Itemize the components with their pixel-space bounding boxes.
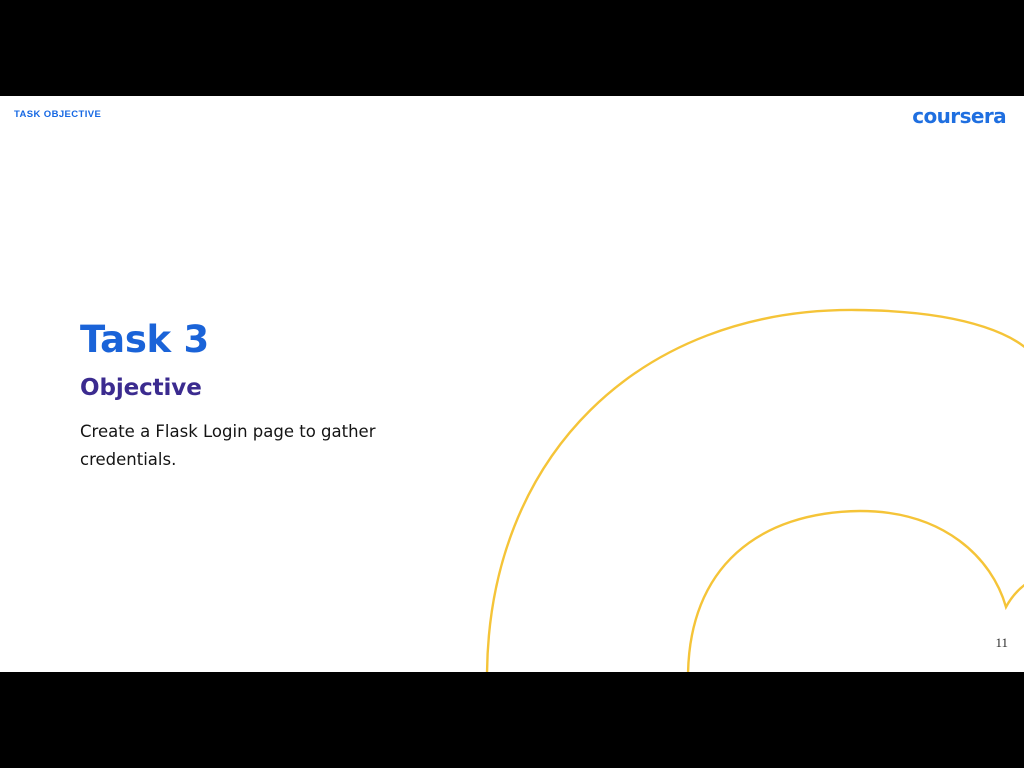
content-block: Task 3 Objective Create a Flask Login pa… xyxy=(80,320,480,474)
coursera-logo: coursera xyxy=(912,104,1006,128)
inner-arc-path xyxy=(688,511,1024,672)
objective-body-text: Create a Flask Login page to gather cred… xyxy=(80,418,380,474)
outer-arc-path xyxy=(487,310,1024,672)
slide-header: TASK OBJECTIVE coursera xyxy=(0,96,1024,142)
letterbox-top-bar xyxy=(0,0,1024,96)
objective-heading: Objective xyxy=(80,375,480,401)
slide-frame: TASK OBJECTIVE coursera Task 3 Objective… xyxy=(0,0,1024,768)
letterbox-bottom-bar xyxy=(0,672,1024,768)
task-title: Task 3 xyxy=(80,320,480,361)
page-number: 11 xyxy=(995,635,1008,651)
eyebrow-label: TASK OBJECTIVE xyxy=(14,109,101,120)
slide-canvas: TASK OBJECTIVE coursera Task 3 Objective… xyxy=(0,96,1024,672)
